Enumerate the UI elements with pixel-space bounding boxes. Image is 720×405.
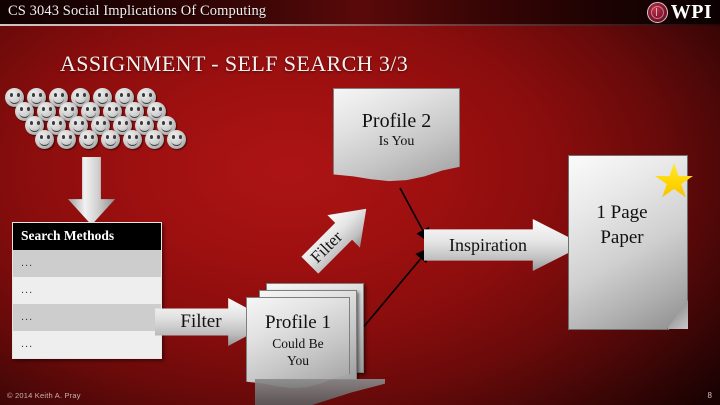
table-row: ... <box>13 304 161 331</box>
table-row: ... <box>13 250 161 277</box>
wpi-logo-text: WPI <box>671 3 712 22</box>
person-face-icon <box>79 130 98 149</box>
search-methods-table: Search Methods ... ... ... ... <box>12 222 162 359</box>
down-arrow-icon <box>68 157 115 225</box>
table-row: ... <box>13 331 161 358</box>
footer-wave-shape <box>255 379 385 405</box>
filter-arrow-diagonal-label: Filter <box>300 200 374 274</box>
slide-title: ASSIGNMENT - SELF SEARCH 3/3 <box>60 51 408 77</box>
profile-2-card: Profile 2 Is You <box>333 88 460 184</box>
person-face-icon <box>123 130 142 149</box>
person-face-icon <box>57 130 76 149</box>
paper-label: 1 Page Paper <box>568 200 676 250</box>
filter-arrow-diagonal: Filter <box>296 196 380 280</box>
profile-2-subtitle: Is You <box>379 133 415 150</box>
wpi-logo: WPI <box>647 2 712 23</box>
person-face-icon <box>145 130 164 149</box>
course-title: CS 3043 Social Implications Of Computing <box>8 3 266 20</box>
person-face-icon <box>101 130 120 149</box>
table-row: ... <box>13 277 161 304</box>
people-cluster <box>5 88 190 150</box>
slide-canvas: CS 3043 Social Implications Of Computing… <box>0 0 720 405</box>
profile-2-title: Profile 2 <box>362 109 431 133</box>
person-face-icon <box>35 130 54 149</box>
paper-label-line-1: 1 Page <box>568 200 676 225</box>
profile-1-subtitle-line-2: You <box>287 352 309 369</box>
paper-label-line-2: Paper <box>568 225 676 250</box>
profile-1-title: Profile 1 <box>265 311 331 335</box>
profile-1-subtitle-line-1: Could Be <box>272 335 323 352</box>
copyright-text: © 2014 Keith A. Pray <box>7 391 81 400</box>
wpi-seal-icon <box>647 2 668 23</box>
page-number: 8 <box>708 391 712 400</box>
inspiration-arrow: Inspiration <box>424 219 584 271</box>
header-band: CS 3043 Social Implications Of Computing… <box>0 0 720 26</box>
person-face-icon <box>167 130 186 149</box>
table-header: Search Methods <box>13 223 161 250</box>
profile-1-card: Profile 1 Could Be You <box>246 297 350 391</box>
